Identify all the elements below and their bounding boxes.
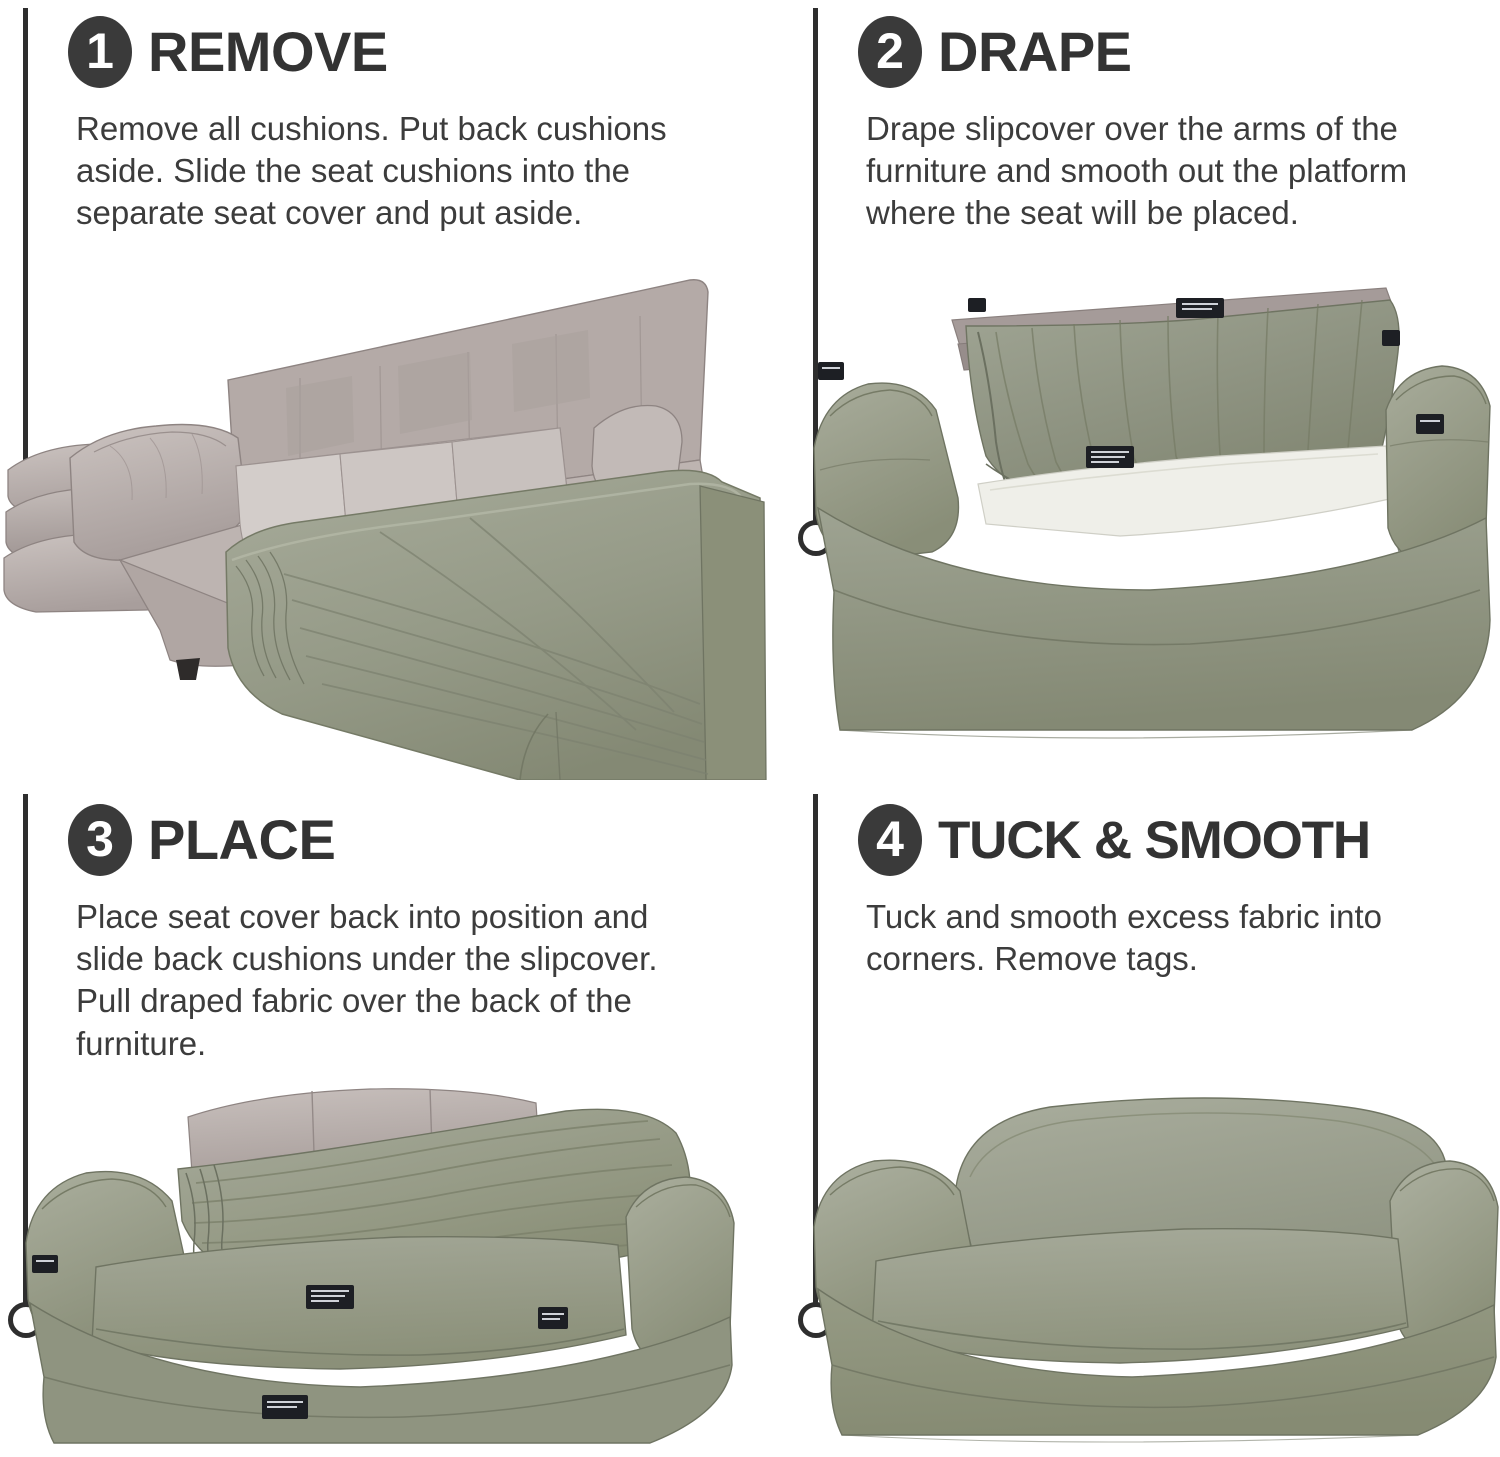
step-number-badge: 3 <box>68 804 132 876</box>
step-title: DRAPE <box>938 24 1132 80</box>
step-description: Place seat cover back into position and … <box>76 896 696 1065</box>
step-number-badge: 1 <box>68 16 132 88</box>
care-tag <box>1416 414 1444 434</box>
step-title: REMOVE <box>148 24 388 80</box>
care-tag <box>32 1255 58 1273</box>
care-tag <box>818 362 844 380</box>
step-header-1: 1 REMOVE <box>68 4 388 100</box>
step-title: TUCK & SMOOTH <box>938 814 1370 867</box>
care-tag <box>262 1395 308 1419</box>
step-number-badge: 2 <box>858 16 922 88</box>
care-tag <box>1382 330 1400 346</box>
step-illustration-4 <box>790 1077 1500 1457</box>
step-header-4: 4 TUCK & SMOOTH <box>858 792 1370 888</box>
step-description: Tuck and smooth excess fabric into corne… <box>866 896 1466 980</box>
seat-cover-placed <box>92 1237 626 1369</box>
step-panel-4: 4 TUCK & SMOOTH Tuck and smooth excess f… <box>790 780 1500 1457</box>
step-title: PLACE <box>148 812 335 868</box>
step-description: Drape slipcover over the arms of the fur… <box>866 108 1500 235</box>
step-illustration-3 <box>0 1077 790 1457</box>
step-illustration-1 <box>0 260 790 780</box>
care-tag <box>538 1307 568 1329</box>
step-illustration-2 <box>790 260 1500 780</box>
step-panel-1: 1 REMOVE Remove all cushions. Put back c… <box>0 0 790 780</box>
seat-cushion <box>872 1229 1408 1363</box>
step-header-3: 3 PLACE <box>68 792 335 888</box>
step-header-2: 2 DRAPE <box>858 4 1132 100</box>
care-tag <box>968 298 986 312</box>
step-description: Remove all cushions. Put back cushions a… <box>76 108 736 235</box>
step-number-badge: 4 <box>858 804 922 876</box>
care-tag <box>306 1285 354 1309</box>
care-tag <box>1176 298 1224 318</box>
step-panel-2: 2 DRAPE Drape slipcover over the arms of… <box>790 0 1500 780</box>
care-tag <box>1086 446 1134 468</box>
step-panel-3: 3 PLACE Place seat cover back into posit… <box>0 780 790 1457</box>
instruction-grid: 1 REMOVE Remove all cushions. Put back c… <box>0 0 1500 1457</box>
